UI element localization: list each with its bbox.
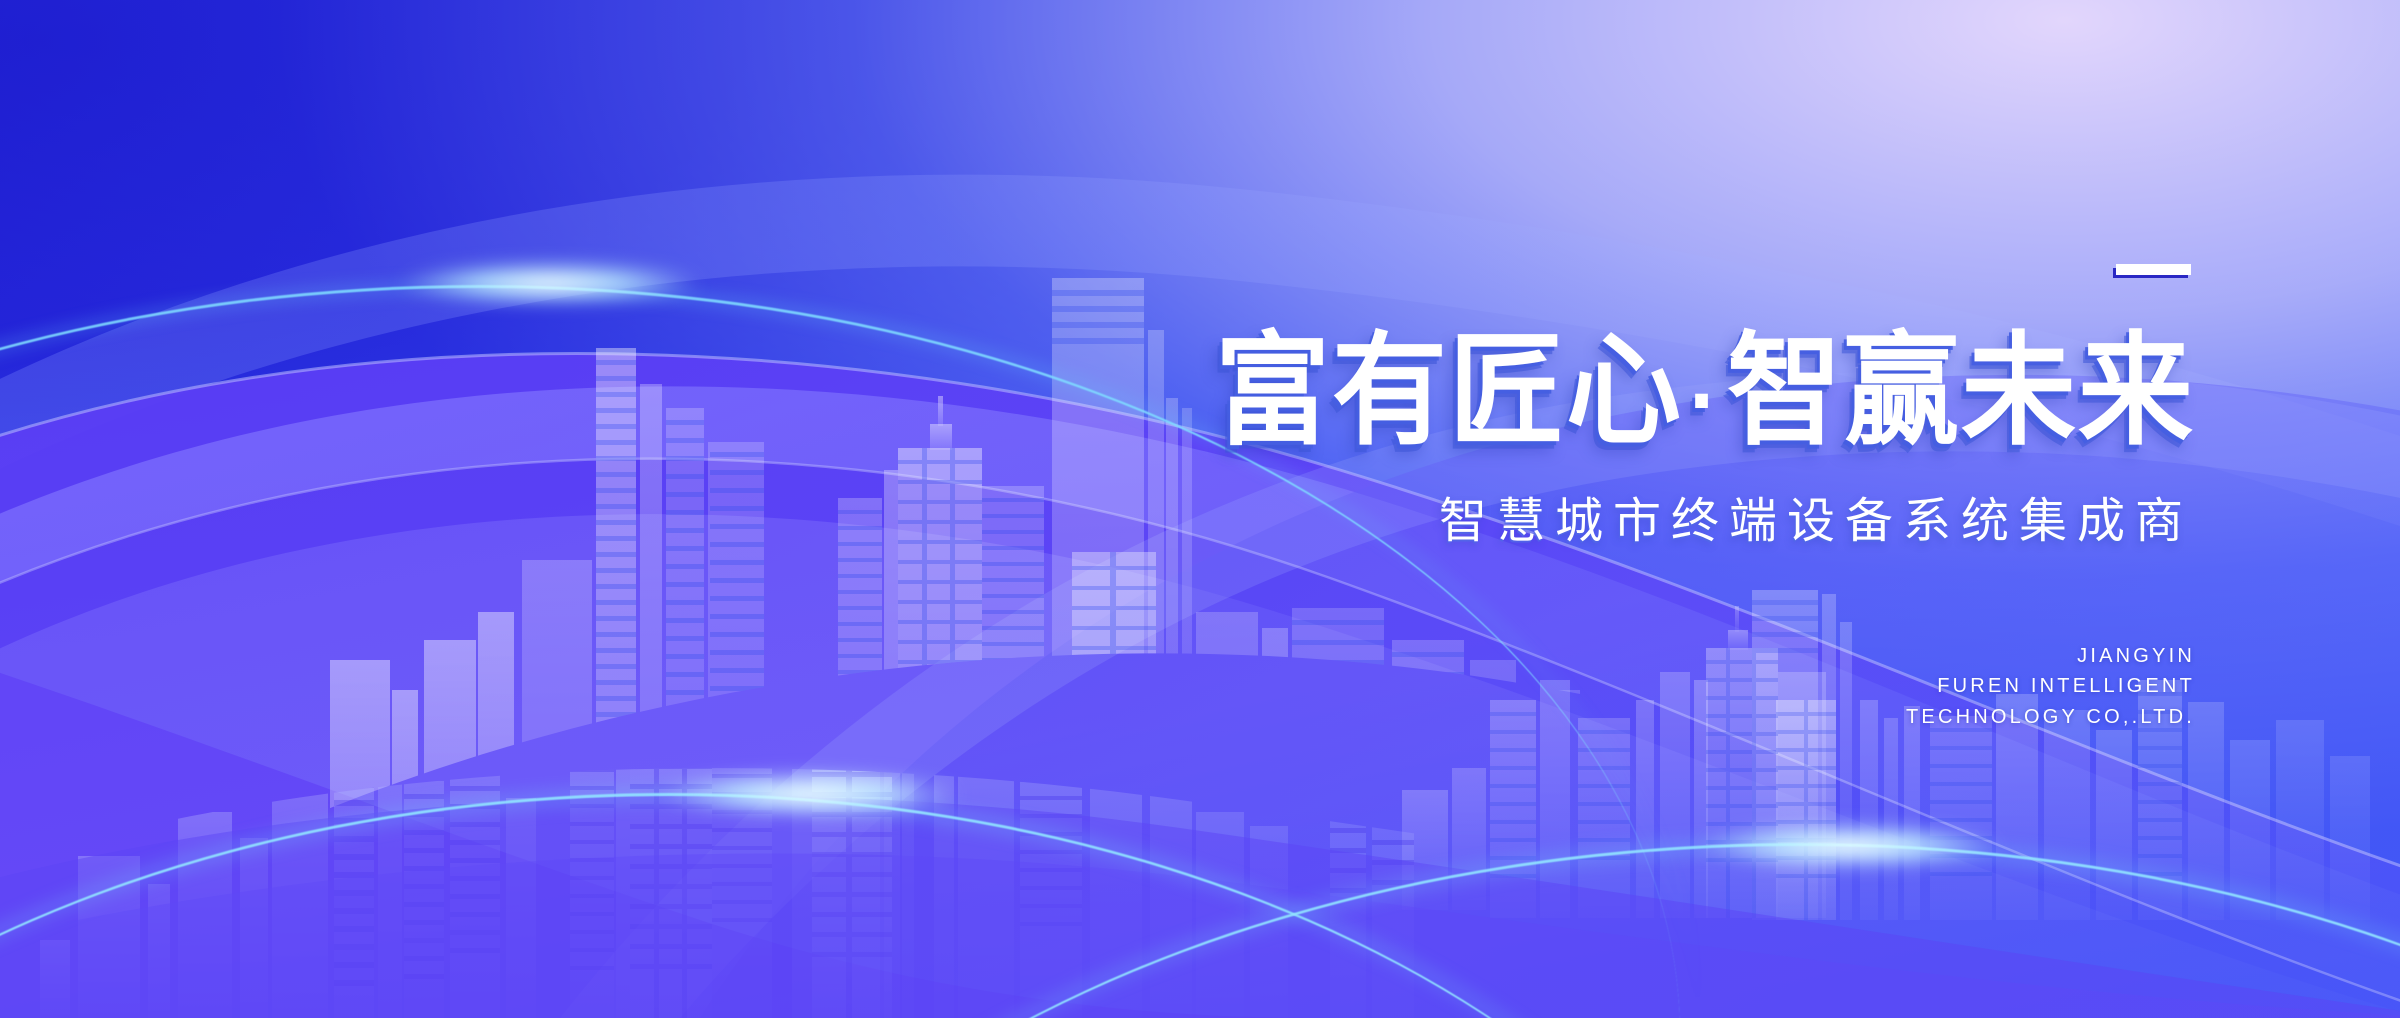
glow-highlight-top — [400, 262, 700, 304]
company-line-2: FUREN INTELLIGENT — [1215, 671, 2195, 701]
company-name: JIANGYIN FUREN INTELLIGENT TECHNOLOGY CO… — [1215, 641, 2195, 732]
page-title: 富有匠心·智赢未来 — [1215, 331, 2195, 453]
headline-right: 智赢未来 — [1727, 324, 2195, 460]
glow-highlight-bottom-left — [660, 772, 960, 816]
decorative-dash-icon — [2116, 264, 2191, 275]
page-subtitle: 智慧城市终端设备系统集成商 — [1215, 481, 2195, 551]
poster-canvas: 富有匠心·智赢未来 智慧城市终端设备系统集成商 JIANGYIN FUREN I… — [0, 0, 2400, 1018]
company-line-1: JIANGYIN — [1215, 641, 2195, 671]
headline-left: 富有匠心 — [1215, 324, 1683, 460]
glow-highlight-right — [1700, 824, 2000, 868]
text-block: 富有匠心·智赢未来 智慧城市终端设备系统集成商 JIANGYIN FUREN I… — [1215, 262, 2195, 732]
headline-separator: · — [1683, 348, 1727, 454]
company-line-3: TECHNOLOGY CO,.LTD. — [1215, 702, 2195, 732]
